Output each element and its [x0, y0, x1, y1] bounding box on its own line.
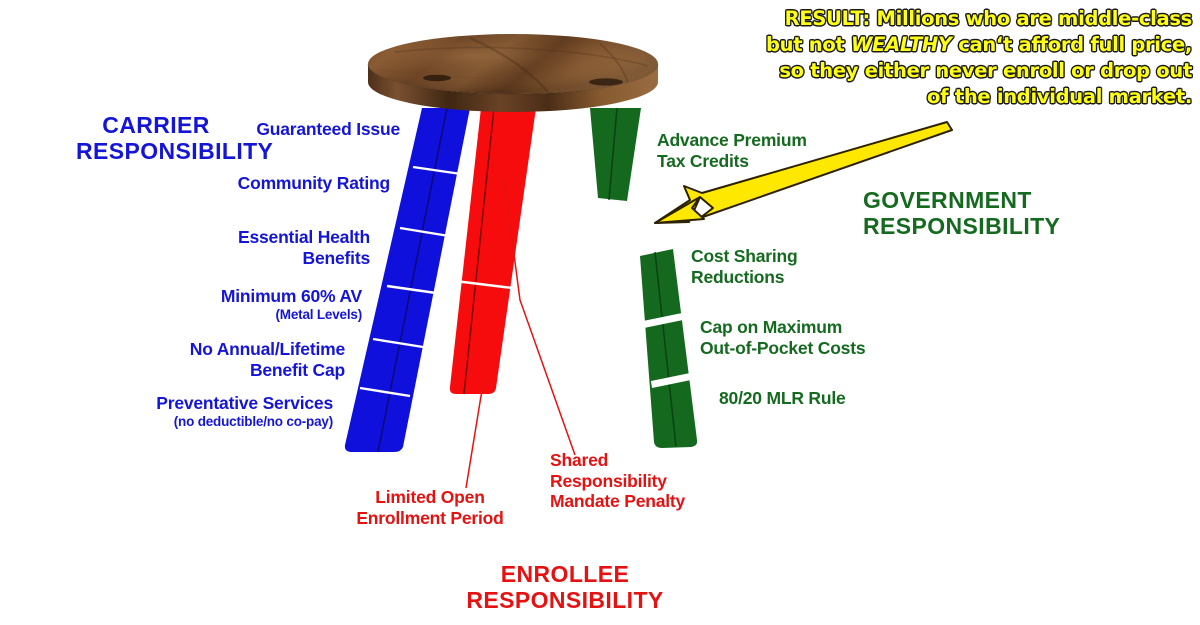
carrier-item-no-benefit-cap: No Annual/Lifetime Benefit Cap: [120, 339, 345, 380]
government-item-advance-premium-tax-credits: Advance Premium Tax Credits: [657, 130, 887, 171]
carrier-item-preventative-services: Preventative Services: [108, 393, 333, 414]
green-stool-leg-lower: [640, 249, 697, 448]
carrier-item-minimum-av: Minimum 60% AV: [140, 286, 362, 307]
government-item-cap-out-of-pocket: Cap on Maximum Out-of-Pocket Costs: [700, 317, 940, 358]
enrollee-item-limited-open-enrollment: Limited Open Enrollment Period: [330, 487, 530, 528]
enrollee-responsibility-heading: ENROLLEE RESPONSIBILITY: [440, 561, 690, 613]
carrier-item-community-rating: Community Rating: [158, 173, 390, 194]
government-item-cost-sharing-reductions: Cost Sharing Reductions: [691, 246, 911, 287]
callout-line-1: RESULT: Millions who are middle-class: [722, 6, 1192, 32]
government-responsibility-heading: GOVERNMENT RESPONSIBILITY: [863, 187, 1093, 239]
green-stool-leg-broken-top: [590, 108, 641, 201]
red-stool-leg: [450, 108, 536, 394]
blue-stool-leg: [345, 108, 470, 452]
callout-line-3: so they either never enroll or drop out: [722, 58, 1192, 84]
callout-line-2: but not WEALTHY can‘t afford full price,: [722, 32, 1192, 58]
callout-emphasis-wealthy: WEALTHY: [851, 33, 952, 56]
carrier-item-guaranteed-issue: Guaranteed Issue: [178, 119, 400, 140]
government-item-mlr-rule: 80/20 MLR Rule: [719, 388, 939, 409]
infographic-canvas: RESULT: Millions who are middle-class bu…: [0, 0, 1200, 625]
carrier-item-minimum-av-sub: (Metal Levels): [140, 307, 362, 323]
result-callout: RESULT: Millions who are middle-class bu…: [722, 6, 1192, 110]
callout-line-2-a: but not: [766, 33, 851, 56]
carrier-item-preventative-services-sub: (no deductible/no co-pay): [96, 414, 333, 430]
callout-line-4: of the individual market.: [722, 84, 1192, 110]
carrier-item-essential-health-benefits: Essential Health Benefits: [148, 227, 370, 268]
callout-line-2-b: can‘t afford full price,: [952, 33, 1192, 56]
wooden-stool-seat: [368, 34, 658, 112]
enrollee-item-shared-responsibility-penalty: Shared Responsibility Mandate Penalty: [550, 450, 780, 512]
